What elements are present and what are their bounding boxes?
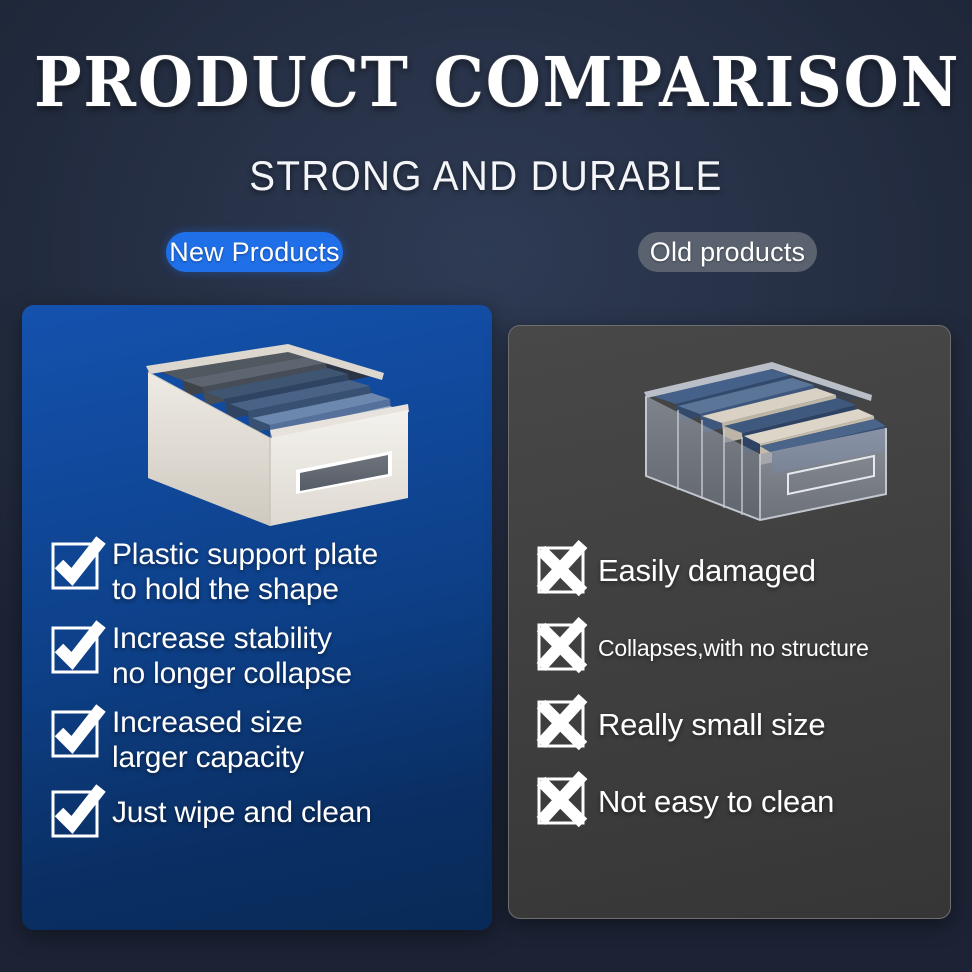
old-product-feature-list: Easily damaged Collapses,with no structu…	[536, 546, 946, 854]
checkbox-crossed-icon	[536, 777, 584, 825]
page-subtitle: STRONG AND DURABLE	[39, 152, 933, 200]
feature-text: Easily damaged	[598, 546, 816, 595]
feature-row: Really small size	[536, 700, 946, 749]
feature-text: Increase stability no longer collapse	[112, 620, 352, 691]
badge-old-products: Old products	[638, 232, 817, 272]
feature-text: Really small size	[598, 700, 825, 749]
new-product-feature-list: Plastic support plate to hold the shape …	[50, 536, 490, 850]
feature-row: Collapses,with no structure	[536, 623, 946, 672]
checkbox-crossed-icon	[536, 546, 584, 594]
feature-text: Increased size larger capacity	[112, 704, 304, 775]
feature-text: Collapses,with no structure	[598, 623, 869, 672]
checkbox-crossed-icon	[536, 700, 584, 748]
feature-row: Increase stability no longer collapse	[50, 620, 490, 691]
checkbox-crossed-icon	[536, 623, 584, 671]
badge-new-products: New Products	[166, 232, 343, 272]
checkbox-checked-icon	[50, 624, 98, 672]
feature-row: Plastic support plate to hold the shape	[50, 536, 490, 607]
feature-row: Just wipe and clean	[50, 788, 490, 837]
checkbox-checked-icon	[50, 540, 98, 588]
checkbox-checked-icon	[50, 708, 98, 756]
feature-text: Plastic support plate to hold the shape	[112, 536, 378, 607]
feature-row: Not easy to clean	[536, 777, 946, 826]
feature-row: Easily damaged	[536, 546, 946, 595]
product-comparison-infographic: PRODUCT COMPARISON STRONG AND DURABLE Ne…	[0, 0, 972, 972]
old-product-image	[630, 348, 890, 533]
feature-text: Just wipe and clean	[112, 788, 372, 837]
feature-text: Not easy to clean	[598, 777, 834, 826]
new-product-image	[120, 330, 410, 530]
page-title: PRODUCT COMPARISON	[34, 47, 938, 119]
checkbox-checked-icon	[50, 788, 98, 836]
feature-row: Increased size larger capacity	[50, 704, 490, 775]
